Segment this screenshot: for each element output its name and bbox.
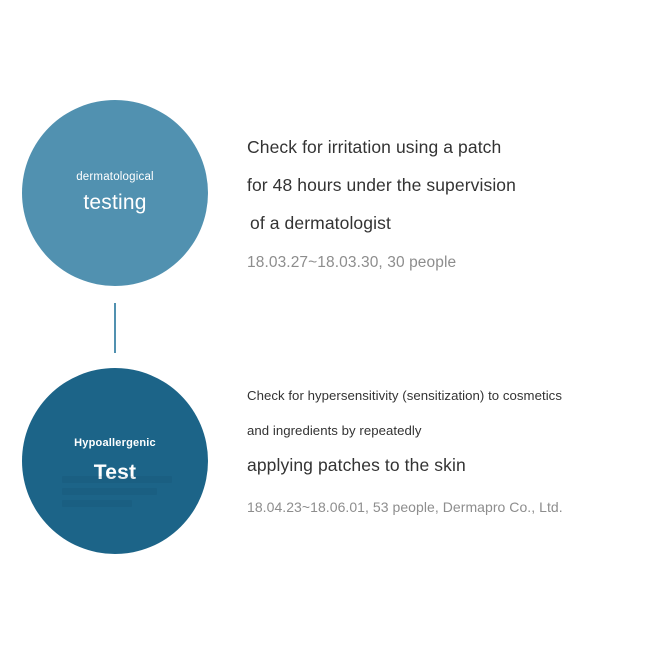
description-line: for 48 hours under the supervision [247, 166, 637, 204]
badge-dermatological-testing: dermatological testing [22, 100, 208, 286]
description-line: Check for irritation using a patch [247, 128, 637, 166]
description-line: applying patches to the skin [247, 448, 639, 482]
badge-kicker: Hypoallergenic [74, 437, 156, 450]
connector-line [114, 303, 116, 353]
ghost-bar [62, 500, 132, 507]
badge-title: Test [94, 461, 136, 485]
badge-kicker: dermatological [76, 171, 154, 185]
description-block-hypoallergenic: Check for hypersensitivity (sensitizatio… [247, 378, 639, 515]
diagram-canvas: dermatological testing Hypoallergenic Te… [0, 0, 657, 657]
description-line: and ingredients by repeatedly [247, 413, 639, 448]
badge-hypoallergenic-test: Hypoallergenic Test [22, 368, 208, 554]
description-line: Check for hypersensitivity (sensitizatio… [247, 378, 639, 413]
ghost-bar [62, 488, 157, 495]
description-line: of a dermatologist [247, 204, 637, 242]
description-block-dermatological: Check for irritation using a patch for 4… [247, 128, 637, 272]
badge-title: testing [83, 191, 146, 215]
description-meta: 18.04.23~18.06.01, 53 people, Dermapro C… [247, 499, 639, 515]
description-meta: 18.03.27~18.03.30, 30 people [247, 254, 637, 272]
